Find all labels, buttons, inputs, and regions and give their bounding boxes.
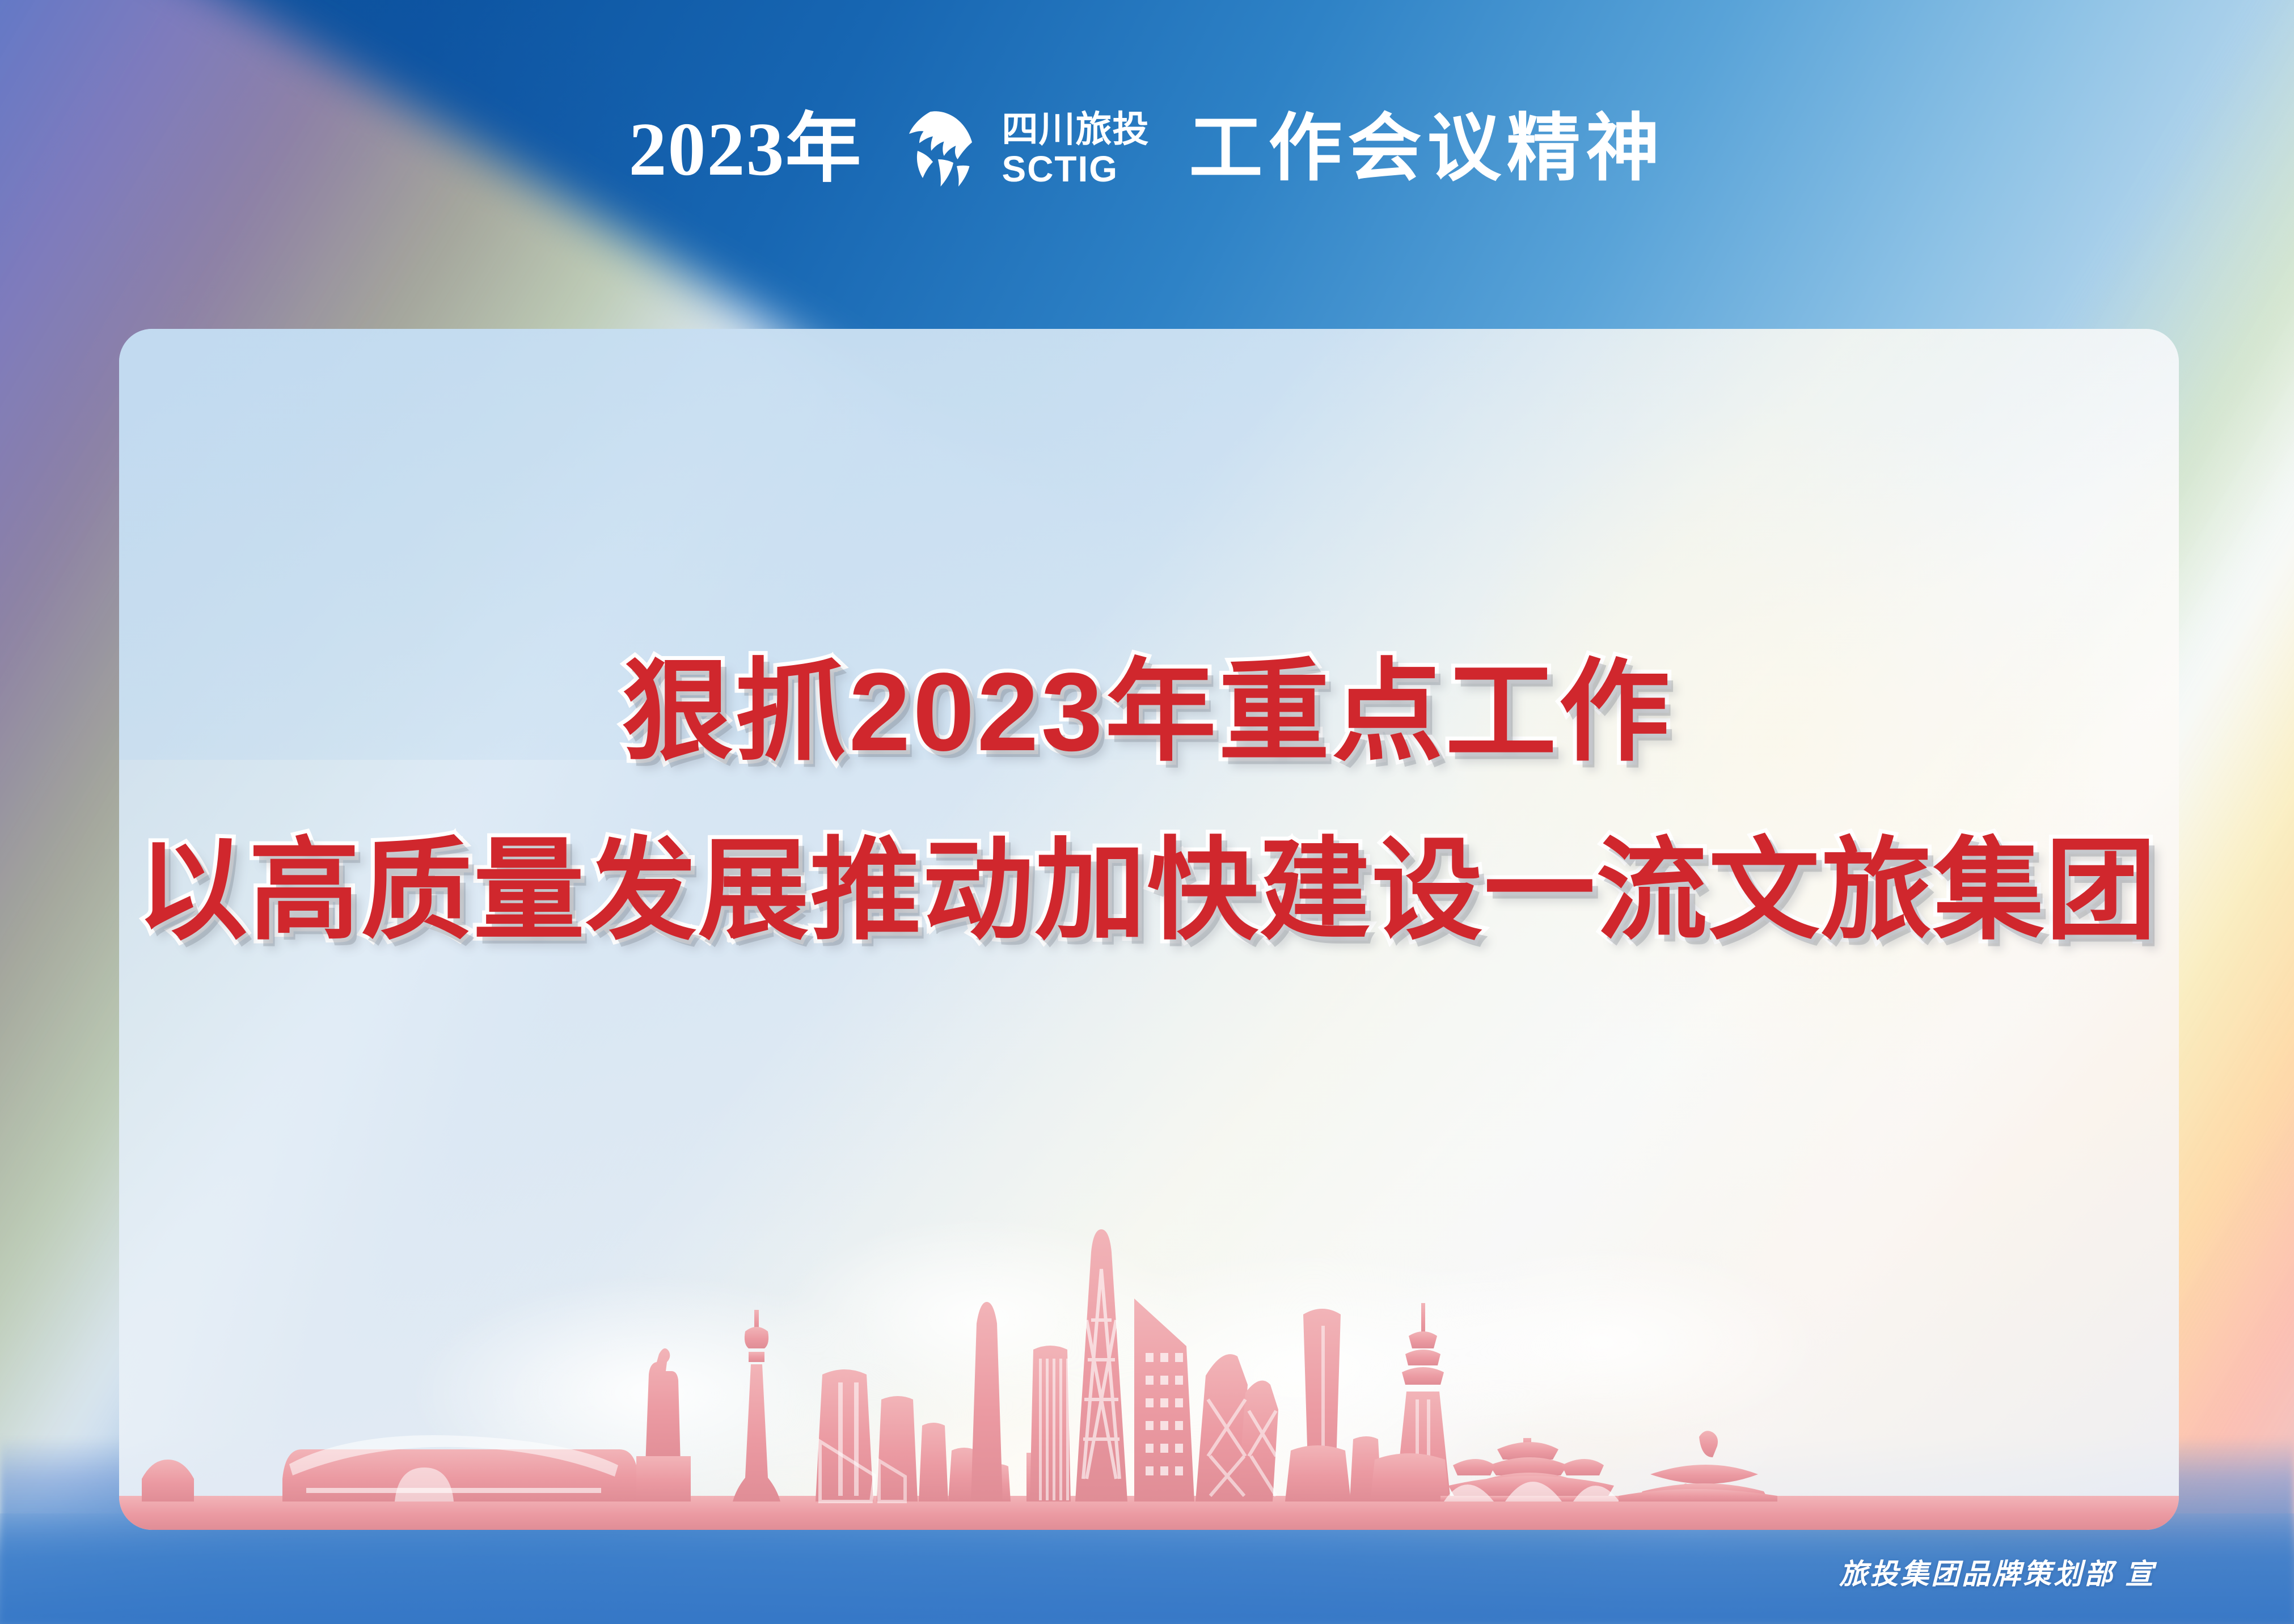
poster-canvas: 2023年 四川旅投 SCTIG 工作会议精神 — [0, 0, 2294, 1624]
brand-name-cn: 四川旅投 — [1002, 111, 1150, 147]
brand-logo: 四川旅投 SCTIG — [902, 107, 1150, 192]
header-subject-label: 工作会议精神 — [1189, 112, 1666, 186]
brand-name-en: SCTIG — [1002, 151, 1119, 187]
sctig-globe-logo-icon — [902, 107, 987, 192]
footer-credit: 旅投集团品牌策划部 宣 — [1839, 1551, 2156, 1592]
poster-header: 2023年 四川旅投 SCTIG 工作会议精神 — [0, 90, 2294, 209]
chengdu-city-skyline-silhouette — [119, 1212, 2179, 1530]
content-card — [119, 329, 2179, 1530]
brand-logo-text: 四川旅投 SCTIG — [1002, 111, 1150, 187]
header-year-label: 2023年 — [628, 111, 862, 187]
